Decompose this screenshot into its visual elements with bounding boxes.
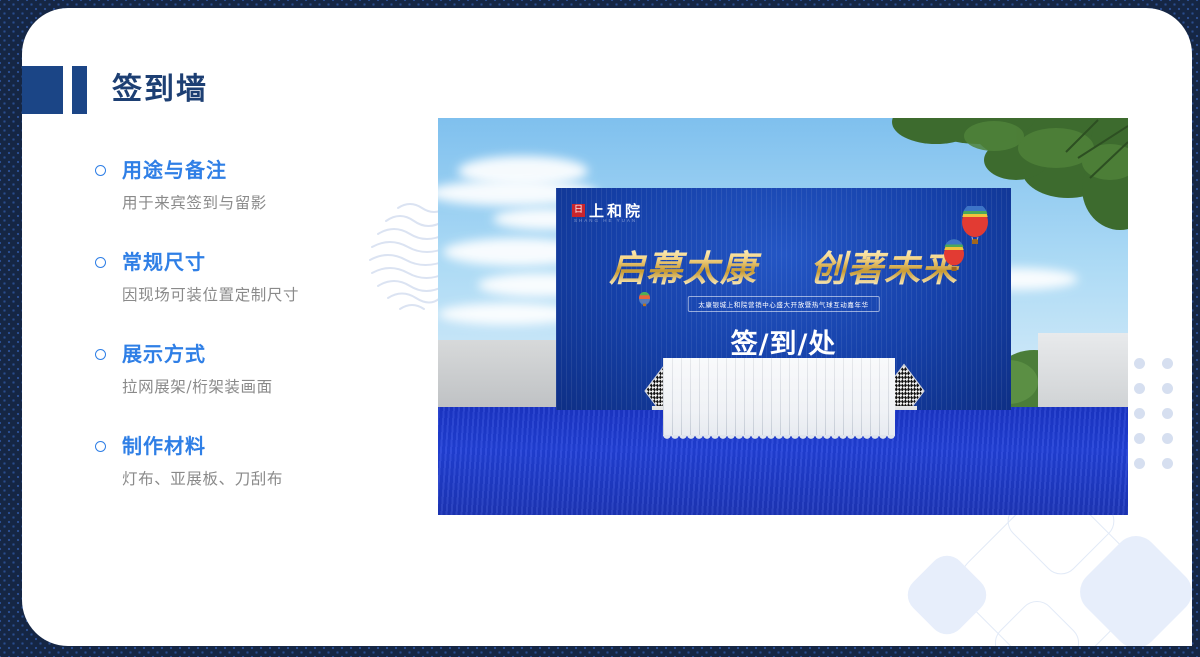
circle-outline-icon [95,441,106,452]
list-item: 常规尺寸 因现场可装位置定制尺寸 [95,250,395,305]
title-accent-bar-narrow [72,66,87,114]
info-list: 用途与备注 用于来宾签到与留影 常规尺寸 因现场可装位置定制尺寸 展示方式 拉网… [95,158,395,490]
backdrop-registry-cn: 签/到/处 [556,322,1011,361]
balloon-icon-small [638,292,651,308]
photo-signin-wall: 日 上和院 SHANG HE YUAN 启幕太康 创著未来 [438,118,1128,515]
seal-icon: 日 [572,204,585,217]
backdrop-logo-subtext: SHANG HE YUAN [574,218,637,223]
list-item: 用途与备注 用于来宾签到与留影 [95,158,395,213]
backdrop-headline-right: 创著未来 [810,248,958,290]
page-title: 签到墙 [112,75,208,105]
title-accent-bar-wide [22,66,63,114]
info-item-title: 展示方式 [122,342,206,366]
info-item-head: 常规尺寸 [95,250,395,274]
info-item-desc: 因现场可装位置定制尺寸 [122,285,395,305]
balloon-icons-group [941,206,997,280]
page-title-row: 签到墙 [22,65,208,115]
signin-table [663,358,895,436]
slide-root: 签到墙 用途与备注 用于来宾签到与留影 常规尺寸 因现场可装位置定制尺寸 [0,0,1200,657]
list-item: 展示方式 拉网展架/桁架装画面 [95,342,395,397]
circle-outline-icon [95,349,106,360]
info-item-desc: 用于来宾签到与留影 [122,193,395,213]
info-item-title: 常规尺寸 [122,250,206,274]
backdrop-banner-text: 太康银城上和院营销中心盛大开放暨热气球互动嘉年华 [687,296,879,312]
backdrop-headline-left: 启幕太康 [609,248,757,290]
dot-grid-decoration-icon [1134,358,1190,483]
info-item-desc: 拉网展架/桁架装画面 [122,377,395,397]
info-item-desc: 灯布、亚展板、刀刮布 [122,469,395,489]
content-card: 签到墙 用途与备注 用于来宾签到与留影 常规尺寸 因现场可装位置定制尺寸 [22,8,1192,646]
circle-outline-icon [95,257,106,268]
info-item-head: 用途与备注 [95,158,395,182]
info-item-head: 展示方式 [95,342,395,366]
circle-outline-icon [95,165,106,176]
list-item: 制作材料 灯布、亚展板、刀刮布 [95,434,395,489]
info-item-head: 制作材料 [95,434,395,458]
info-item-title: 制作材料 [122,434,206,458]
info-item-title: 用途与备注 [122,158,227,182]
